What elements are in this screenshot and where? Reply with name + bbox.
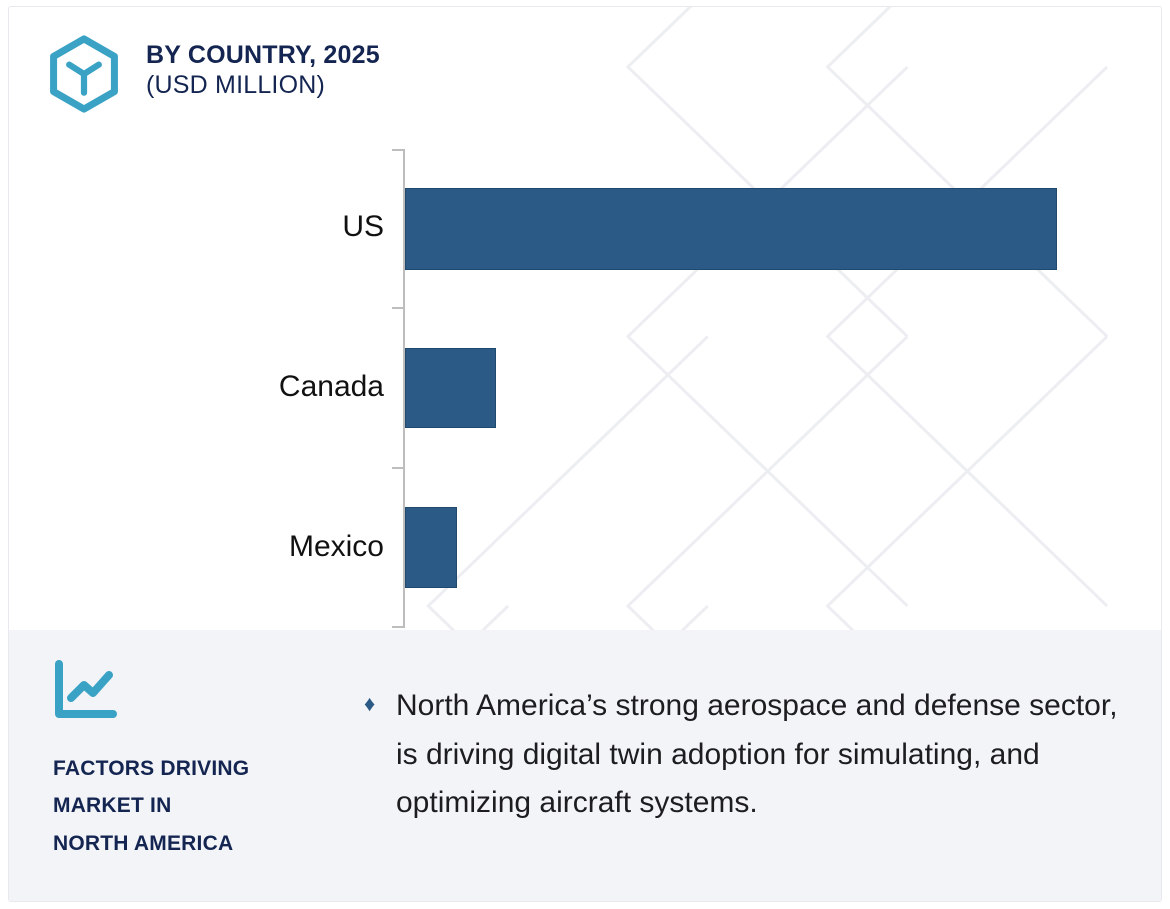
bar-us [405,188,1057,270]
axis-tick [392,149,404,151]
bar-category-label: Canada [44,370,384,404]
infographic-card: BY COUNTRY, 2025 (USD MILLION) US Canada… [8,6,1162,902]
page-subtitle: (USD MILLION) [146,71,380,101]
factors-panel-heading: FACTORS DRIVING MARKET IN NORTH AMERICA [53,750,353,862]
factors-heading-line-3: NORTH AMERICA [53,825,353,862]
factors-heading-line-1: FACTORS DRIVING [53,750,353,787]
factors-panel-left: FACTORS DRIVING MARKET IN NORTH AMERICA [53,660,353,862]
header: BY COUNTRY, 2025 (USD MILLION) [45,33,380,113]
axis-tick [392,467,404,469]
page-title: BY COUNTRY, 2025 [146,41,380,71]
axis-tick [392,307,404,309]
bar-mexico [405,507,457,588]
line-chart-icon [53,660,119,722]
diamond-bullet-icon: ♦ [364,693,382,715]
title-block: BY COUNTRY, 2025 (USD MILLION) [146,41,380,100]
bar-category-label: US [44,210,384,244]
hexagon-y-logo-icon [45,35,123,113]
bar-category-label: Mexico [44,530,384,564]
factors-heading-line-2: MARKET IN [53,787,353,824]
axis-tick [392,626,404,628]
factors-panel: FACTORS DRIVING MARKET IN NORTH AMERICA … [9,630,1162,902]
bar-canada [405,348,496,428]
factors-panel-right: ♦ North America’s strong aerospace and d… [364,682,1134,828]
page-root: BY COUNTRY, 2025 (USD MILLION) US Canada… [0,0,1170,909]
factors-bullet-text: North America’s strong aerospace and def… [396,682,1134,828]
